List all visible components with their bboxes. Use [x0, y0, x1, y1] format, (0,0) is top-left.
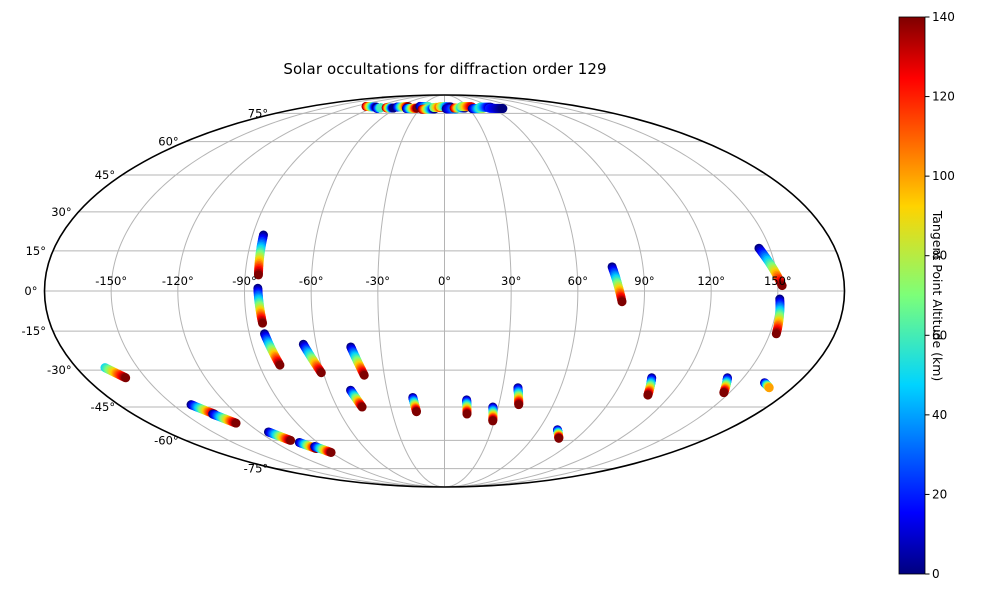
- lon-tick-60: 60°: [568, 274, 588, 288]
- tangent-point-marker: [358, 403, 367, 412]
- lat-tick--60: -60°: [154, 433, 179, 447]
- occultation-track: [513, 383, 523, 409]
- occultation-track: [608, 262, 627, 306]
- lat-tick-75: 75°: [248, 106, 268, 120]
- occultation-track: [760, 378, 774, 392]
- occultation-track: [310, 442, 335, 457]
- tangent-point-marker: [317, 368, 326, 377]
- tangent-point-marker: [554, 434, 563, 443]
- longitude-tick-labels: -150°-120°-90°-60°-30°0°30°60°90°120°150…: [95, 274, 791, 288]
- lat-tick-60: 60°: [158, 135, 178, 149]
- occultation-track: [772, 295, 785, 339]
- tangent-point-marker: [498, 104, 507, 113]
- occultation-track: [488, 403, 497, 426]
- tangent-point-marker: [360, 371, 369, 380]
- mollweide-occultation-plot: -150°-120°-90°-60°-30°0°30°60°90°120°150…: [0, 0, 998, 592]
- colorbar-axis-label: Tangent Point Altitude (km): [922, 0, 952, 592]
- occultation-track: [299, 340, 326, 377]
- occultation-track: [485, 104, 507, 113]
- lat-tick--75: -75°: [244, 462, 269, 476]
- occultation-track: [260, 329, 284, 369]
- occultation-track: [253, 284, 267, 328]
- lat-tick-15: 15°: [26, 244, 46, 258]
- tangent-point-marker: [462, 410, 471, 419]
- tangent-point-marker: [618, 297, 627, 306]
- occultation-track: [408, 393, 421, 416]
- tangent-point-marker: [275, 361, 284, 370]
- lon-tick--150: -150°: [95, 274, 127, 288]
- lon-tick-0: 0°: [438, 274, 451, 288]
- lat-tick-45: 45°: [95, 168, 115, 182]
- lon-tick-120: 120°: [697, 274, 725, 288]
- tangent-point-marker: [514, 400, 523, 409]
- lat-tick--30: -30°: [47, 363, 72, 377]
- tangent-point-marker: [286, 436, 295, 445]
- lat-tick--15: -15°: [21, 324, 46, 338]
- tangent-point-marker: [232, 419, 241, 428]
- occultation-track: [264, 427, 295, 444]
- lon-tick-90: 90°: [634, 274, 654, 288]
- tangent-point-marker: [765, 383, 774, 392]
- tangent-point-marker: [327, 448, 336, 457]
- figure-root: -150°-120°-90°-60°-30°0°30°60°90°120°150…: [0, 0, 998, 592]
- occultation-track: [462, 395, 471, 418]
- occultation-track: [254, 231, 268, 280]
- lon-tick--60: -60°: [299, 274, 324, 288]
- lat-tick-30: 30°: [51, 205, 71, 219]
- tangent-point-marker: [412, 407, 421, 416]
- lon-tick-30: 30°: [501, 274, 521, 288]
- tangent-point-marker: [121, 373, 130, 382]
- occultation-track: [100, 363, 130, 382]
- lon-tick-150: 150°: [764, 274, 792, 288]
- lon-tick--90: -90°: [232, 274, 257, 288]
- tangent-point-marker: [258, 319, 267, 328]
- lat-tick--45: -45°: [91, 400, 116, 414]
- lat-tick-0: 0°: [24, 284, 37, 298]
- graticule: [45, 95, 845, 487]
- tangent-point-marker: [719, 388, 728, 397]
- occultation-track: [643, 373, 656, 399]
- occultation-track: [719, 373, 732, 397]
- occultation-track: [346, 386, 367, 412]
- tangent-point-marker: [643, 391, 652, 400]
- tangent-point-marker: [772, 329, 781, 338]
- lon-tick--120: -120°: [162, 274, 194, 288]
- occultation-track: [346, 342, 368, 379]
- tangent-point-marker: [488, 416, 497, 425]
- page-title: Solar occultations for diffraction order…: [0, 60, 890, 78]
- lon-tick--30: -30°: [366, 274, 391, 288]
